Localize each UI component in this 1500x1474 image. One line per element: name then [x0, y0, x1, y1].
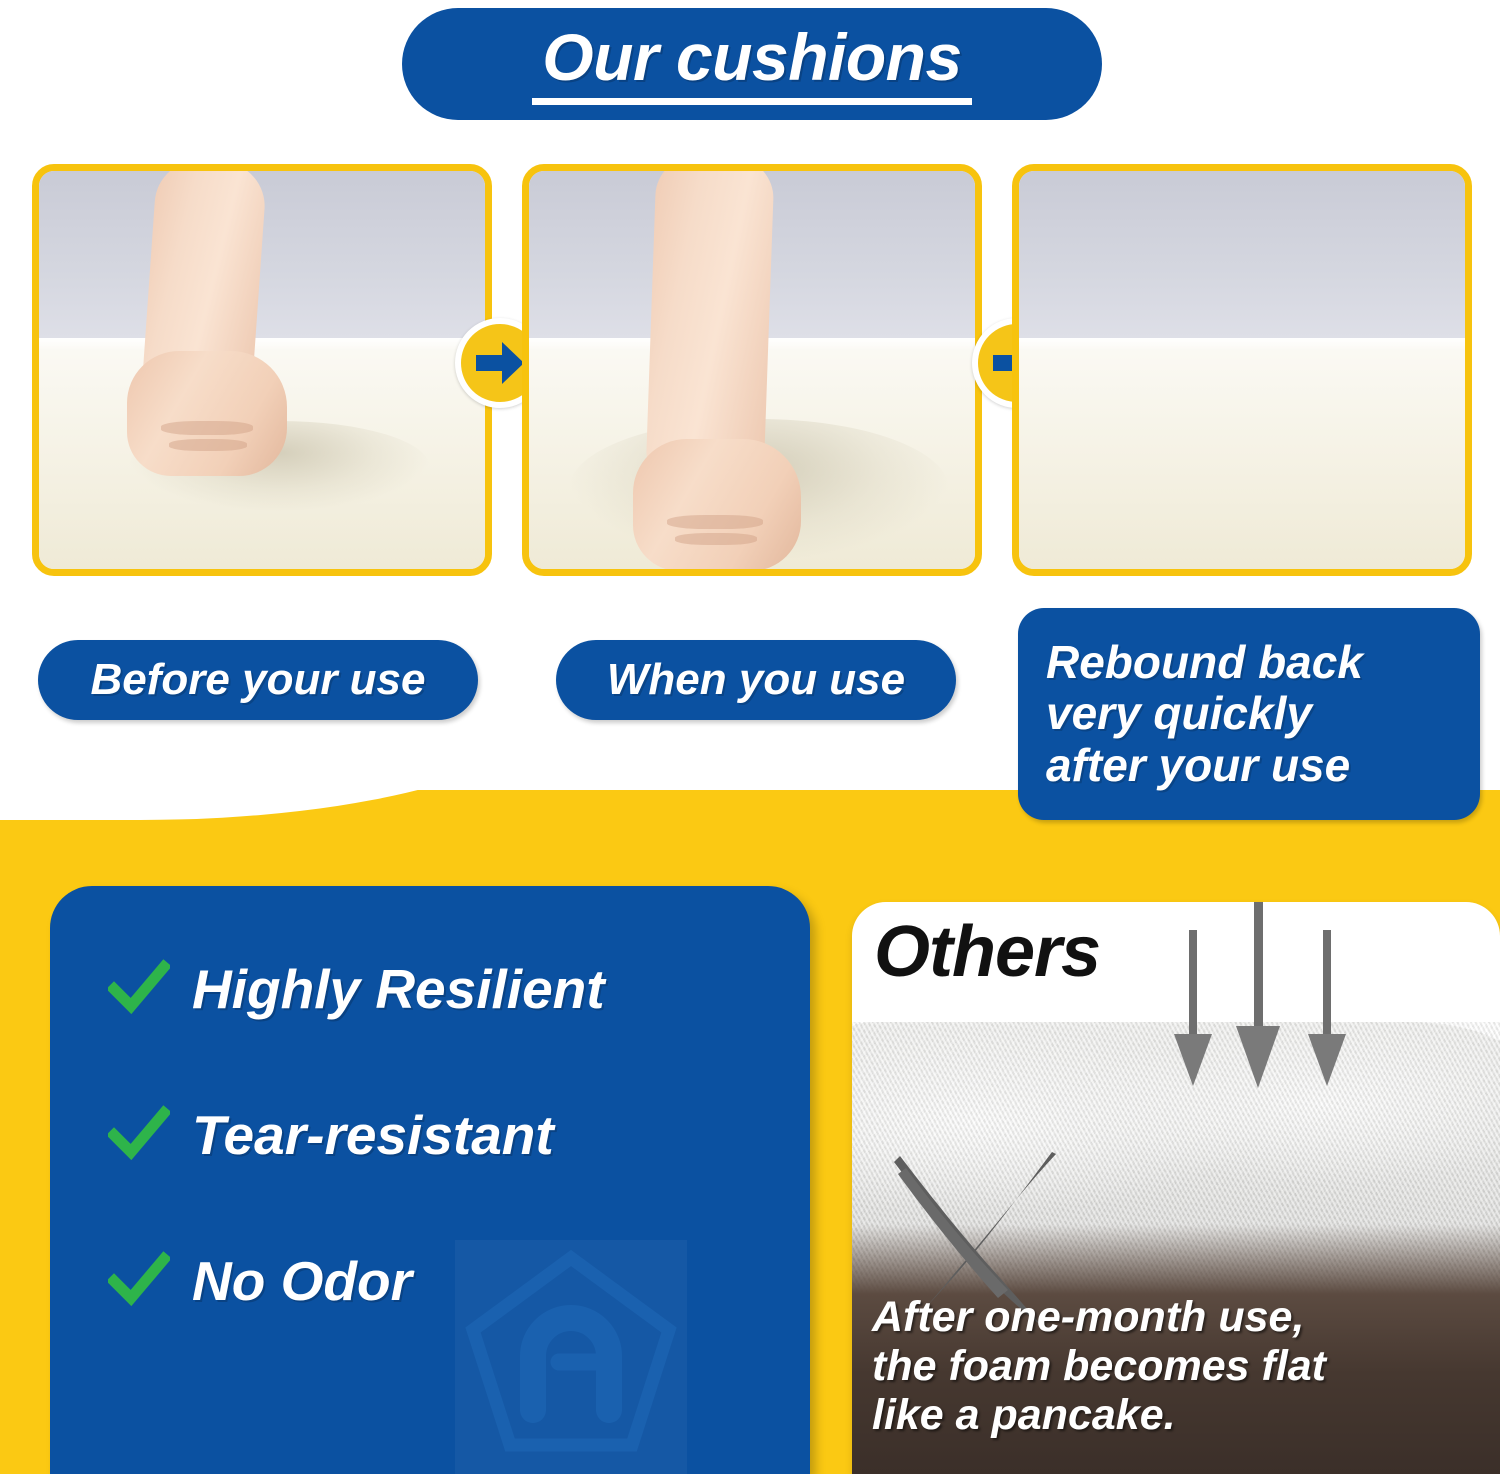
step-label-text: Before your use [91, 658, 426, 702]
page-title-pill: Our cushions [402, 8, 1102, 120]
photo-foam-edge [1019, 338, 1465, 350]
others-caption-line-3: like a pancake. [872, 1391, 1326, 1440]
step-photo-after [1012, 164, 1472, 576]
others-caption-line-1: After one-month use, [872, 1293, 1326, 1342]
feature-item: Tear-resistant [108, 1104, 605, 1166]
others-caption-line-2: the foam becomes flat [872, 1342, 1326, 1391]
check-icon [108, 958, 170, 1020]
step-label-before: Before your use [38, 640, 478, 720]
knuckle-crease [161, 421, 253, 435]
step-label-line-3: after your use [1046, 740, 1350, 792]
others-card: Others After one-month use, the foam bec… [852, 902, 1500, 1474]
feature-item: Highly Resilient [108, 958, 605, 1020]
step-label-line-1: Rebound back [1046, 637, 1363, 689]
fist-shape [127, 351, 287, 476]
step-photo-before [32, 164, 492, 576]
down-arrow-icon [1304, 930, 1350, 1090]
title-underline [532, 98, 972, 105]
knuckle-crease [675, 533, 757, 545]
pentagon-logo-icon [455, 1240, 687, 1474]
knuckle-crease [667, 515, 763, 529]
right-arrow-icon [476, 342, 524, 384]
check-icon [108, 1104, 170, 1166]
step-label-during: When you use [556, 640, 956, 720]
feature-label: No Odor [192, 1254, 412, 1309]
page-title: Our cushions [542, 24, 961, 90]
check-icon [108, 1250, 170, 1312]
photo-foam-edge [39, 338, 485, 350]
feature-label: Highly Resilient [192, 962, 605, 1017]
step-label-line-2: very quickly [1046, 688, 1312, 740]
feature-label: Tear-resistant [192, 1108, 554, 1163]
others-title: Others [874, 916, 1100, 988]
others-caption: After one-month use, the foam becomes fl… [872, 1293, 1326, 1440]
down-arrow-icon [1170, 930, 1216, 1090]
infographic-root: Our cushions [0, 0, 1500, 1474]
step-label-text: When you use [607, 658, 905, 702]
features-card: Highly Resilient Tear-resistant No Odor [50, 886, 810, 1474]
pentagon-logo-watermark [455, 1240, 687, 1474]
step-photo-during [522, 164, 982, 576]
fist-shape [633, 439, 801, 571]
photo-foam-surface [1019, 338, 1465, 569]
down-arrow-icon [1232, 902, 1284, 1092]
knuckle-crease [169, 439, 247, 451]
step-label-after: Rebound back very quickly after your use [1018, 608, 1480, 820]
photo-background-wall [1019, 171, 1465, 346]
